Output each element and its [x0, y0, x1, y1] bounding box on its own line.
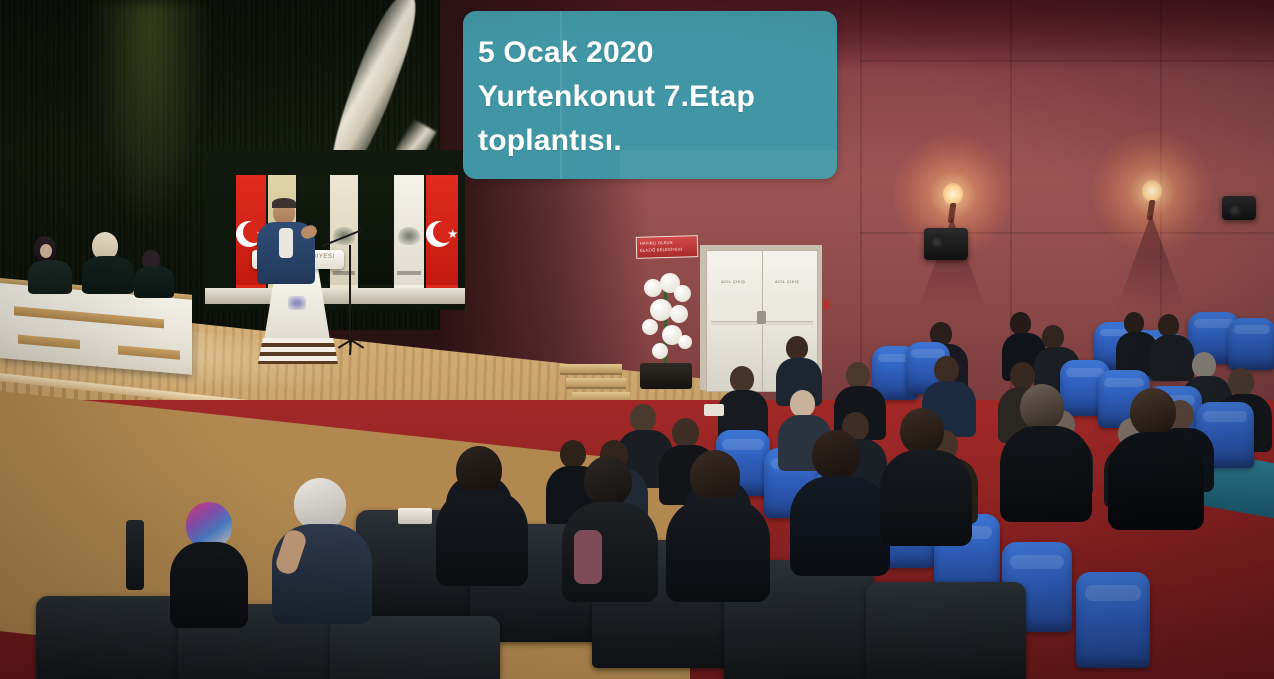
sconce-bulb-icon	[1142, 180, 1162, 202]
caption-text: 5 Ocak 2020 Yurtenkonut 7.Etap toplantıs…	[478, 31, 830, 163]
curtain-light-glow	[90, 0, 210, 230]
speaker-shirt	[279, 228, 293, 258]
flower-ribbon-banner: HAYIRLI OLSUN ELAZIĞ BELEDİYESİ	[636, 235, 699, 259]
exit-indicator	[824, 300, 829, 309]
flower-arrangement	[634, 255, 700, 390]
seat	[330, 616, 500, 679]
podium-base	[258, 338, 338, 364]
microphone-pole	[349, 245, 351, 345]
paper-on-ledge-2	[704, 404, 724, 416]
seat	[1076, 572, 1150, 668]
wall-mounted-loudspeaker-right	[1222, 196, 1256, 220]
banner-white-1	[394, 175, 424, 285]
door-sign-left: ACİL ÇIKIŞ	[721, 279, 745, 284]
sconce-bulb-icon	[943, 183, 963, 205]
wall-seam	[860, 60, 1274, 62]
seat	[1228, 318, 1274, 370]
stage-back-baseboard	[205, 288, 465, 304]
caption-overlay: 5 Ocak 2020 Yurtenkonut 7.Etap toplantıs…	[463, 11, 837, 179]
podium-emblem	[288, 296, 306, 310]
banner-turkish-flag-right	[426, 175, 458, 285]
photo-canvas: ELAZIĞ BELEDİYESİ ACİL ÇIKIŞ ACİL ÇIKIŞ …	[0, 0, 1274, 679]
ribbon-line-2: ELAZIĞ BELEDİYESİ	[640, 247, 682, 254]
door-handle[interactable]	[757, 311, 766, 324]
banner-dark-2	[360, 175, 392, 285]
paper-on-ledge	[398, 508, 432, 524]
wall-mounted-loudspeaker	[924, 228, 968, 260]
seat	[866, 582, 1026, 679]
door-sign-right: ACİL ÇIKIŞ	[775, 279, 799, 284]
seat	[36, 596, 186, 679]
flower-basket	[640, 363, 692, 389]
microphone-tripod-base	[331, 340, 371, 354]
audience-sleeve	[574, 530, 602, 584]
ribbon-line-1: HAYIRLI OLSUN	[640, 240, 673, 247]
